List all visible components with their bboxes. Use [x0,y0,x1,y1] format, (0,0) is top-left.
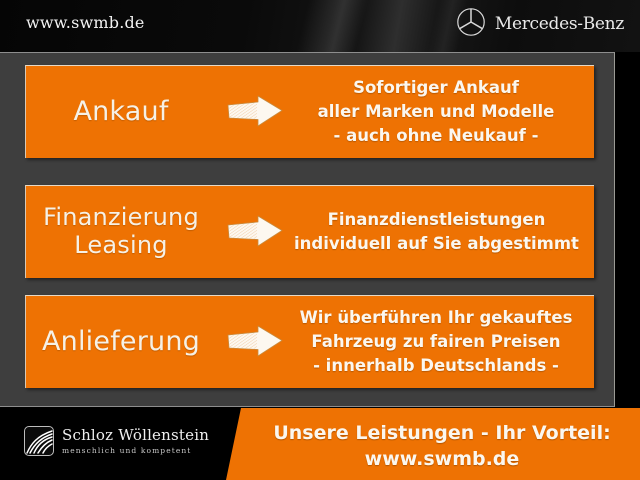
service-title-line: Finanzierung [26,204,216,232]
slide-root: www.swmb.de Mercedes-Benz Ankauf [0,0,640,480]
arrow-right-icon [216,95,294,129]
footer-website-url[interactable]: www.swmb.de [252,447,632,473]
service-title: Finanzierung Leasing [26,204,216,260]
service-card-ankauf[interactable]: Ankauf Sofortiger Ankauf aller Marken un… [25,65,594,158]
service-description-line: aller Marken und Modelle [294,100,578,124]
arrow-right-icon [216,215,294,249]
dealer-tagline: menschlich und kompetent [62,447,209,455]
schloz-woellenstein-logo[interactable]: Schloz Wöllenstein menschlich und kompet… [24,426,209,456]
service-card-anlieferung[interactable]: Anlieferung Wir überführen Ihr gekauftes… [25,295,594,388]
footer-promo-text: Unsere Leistungen - Ihr Vorteil: www.swm… [252,421,632,472]
service-description-line: Wir überführen Ihr gekauftes [294,306,578,330]
service-description-line: individuell auf Sie abgestimmt [294,232,579,256]
service-description-line: Sofortiger Ankauf [294,76,578,100]
schloz-woellenstein-logo-icon [24,426,54,456]
header-light-streak [284,0,376,52]
service-description: Sofortiger Ankauf aller Marken und Model… [294,76,594,148]
service-title: Anlieferung [26,326,216,357]
service-description-line: - auch ohne Neukauf - [294,124,578,148]
service-title: Ankauf [26,96,216,127]
schloz-woellenstein-text: Schloz Wöllenstein menschlich und kompet… [62,428,209,455]
header-website-url: www.swmb.de [26,13,145,32]
service-description-line: Finanzdienstleistungen [294,208,579,232]
arrow-right-icon [216,325,294,359]
service-description: Finanzdienstleistungen individuell auf S… [294,208,595,256]
service-description-line: Fahrzeug zu fairen Preisen [294,330,578,354]
mercedes-benz-logo: Mercedes-Benz [456,7,624,41]
footer-headline: Unsere Leistungen - Ihr Vorteil: [252,421,632,447]
mercedes-benz-wordmark: Mercedes-Benz [495,14,624,34]
dealer-name: Schloz Wöllenstein [62,428,209,443]
header-bar: www.swmb.de Mercedes-Benz [0,0,640,52]
service-card-finanzierung-leasing[interactable]: Finanzierung Leasing Finanzdienstleistun… [25,185,594,278]
service-description-line: - innerhalb Deutschlands - [294,354,578,378]
mercedes-star-icon [456,7,486,41]
service-description: Wir überführen Ihr gekauftes Fahrzeug zu… [294,306,594,378]
service-title-line: Leasing [26,232,216,260]
footer-bar: Schloz Wöllenstein menschlich und kompet… [0,408,640,480]
